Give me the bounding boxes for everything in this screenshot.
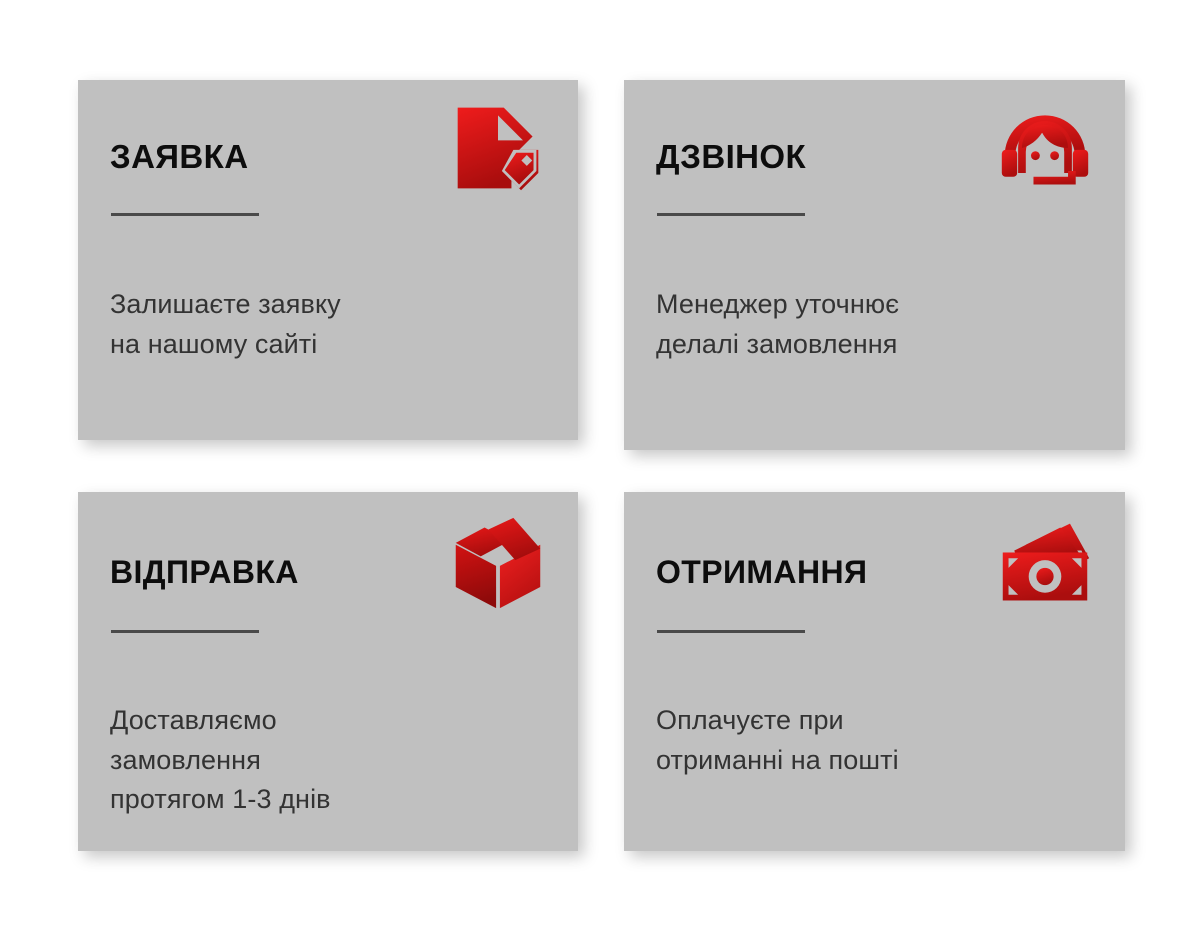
card-body-text: Оплачуєте при отриманні на пошті: [656, 701, 1103, 780]
card-divider: [111, 630, 259, 633]
card-header: ОТРИМАННЯ: [656, 544, 1101, 612]
steps-grid: ЗАЯВКА: [0, 0, 1200, 931]
package-box-icon: [450, 516, 546, 612]
card-header: ЗАЯВКА: [110, 128, 554, 196]
card-body-text: Доставляємо замовлення протягом 1-3 днів: [110, 701, 556, 820]
step-card-vidpravka[interactable]: ВІДПРАВКА: [78, 492, 578, 851]
step-card-otrymannya[interactable]: ОТРИМАННЯ: [624, 492, 1125, 851]
banknotes-icon: [997, 516, 1093, 612]
card-header: ВІДПРАВКА: [110, 544, 554, 612]
step-card-dzvinok[interactable]: ДЗВІНОК: [624, 80, 1125, 450]
card-divider: [111, 213, 259, 216]
document-tag-icon: [450, 100, 546, 196]
card-title: ВІДПРАВКА: [110, 544, 299, 588]
card-title: ЗАЯВКА: [110, 128, 248, 173]
card-body-text: Залишаєте заявку на нашому сайті: [110, 285, 556, 364]
step-card-zayavka[interactable]: ЗАЯВКА: [78, 80, 578, 440]
card-divider: [657, 213, 805, 216]
card-divider: [657, 630, 805, 633]
card-body-text: Менеджер уточнює делалі замовлення: [656, 285, 1103, 364]
headset-operator-icon: [997, 100, 1093, 196]
card-title: ОТРИМАННЯ: [656, 544, 867, 588]
card-header: ДЗВІНОК: [656, 128, 1101, 196]
card-title: ДЗВІНОК: [656, 128, 806, 173]
